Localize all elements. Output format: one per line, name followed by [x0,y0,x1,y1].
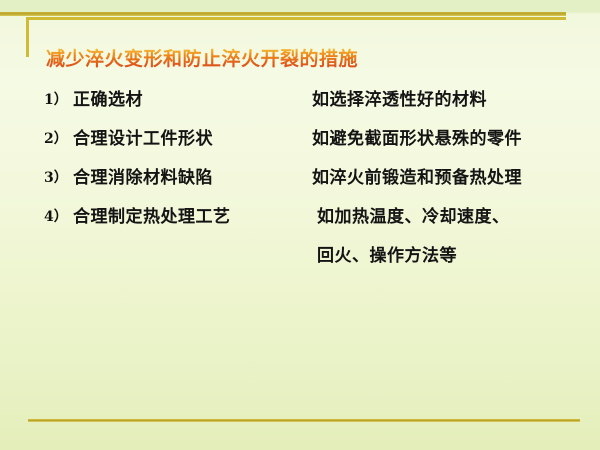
list-item-example: 如选择淬透性好的材料 [312,85,487,110]
slide-canvas: 减少淬火变形和防止淬火开裂的措施 1） 正确选材 如选择淬透性好的材料 2） 合… [0,0,600,450]
list-item-measure: 合理设计工件形状 [73,124,213,149]
list-item-number: 1） [44,89,68,109]
list-item-number: 4） [44,206,68,226]
list-item-example-continued: 回火、操作方法等 [317,241,457,266]
slide-title: 减少淬火变形和防止淬火开裂的措施 [46,48,358,71]
top-horizontal-rule [0,12,566,16]
measures-list: 1） 正确选材 如选择淬透性好的材料 2） 合理设计工件形状 如避免截面形状悬殊… [0,82,600,277]
list-item: 1） 正确选材 如选择淬透性好的材料 [0,82,600,121]
list-item-measure: 合理制定热处理工艺 [73,202,231,227]
bottom-horizontal-rule [28,419,580,422]
list-item-continuation: 回火、操作方法等 [0,238,600,277]
list-item: 2） 合理设计工件形状 如避免截面形状悬殊的零件 [0,121,600,160]
list-item-measure: 正确选材 [73,85,143,110]
list-item: 3） 合理消除材料缺陷 如淬火前锻造和预备热处理 [0,160,600,199]
list-item-example: 如淬火前锻造和预备热处理 [312,163,522,188]
list-item-number: 3） [44,167,68,187]
list-item: 4） 合理制定热处理工艺 如加热温度、冷却速度、 [0,199,600,238]
list-item-example: 如避免截面形状悬殊的零件 [312,124,522,149]
list-item-number: 2） [44,128,68,148]
list-item-example: 如加热温度、冷却速度、 [317,202,510,227]
list-item-measure: 合理消除材料缺陷 [73,163,213,188]
